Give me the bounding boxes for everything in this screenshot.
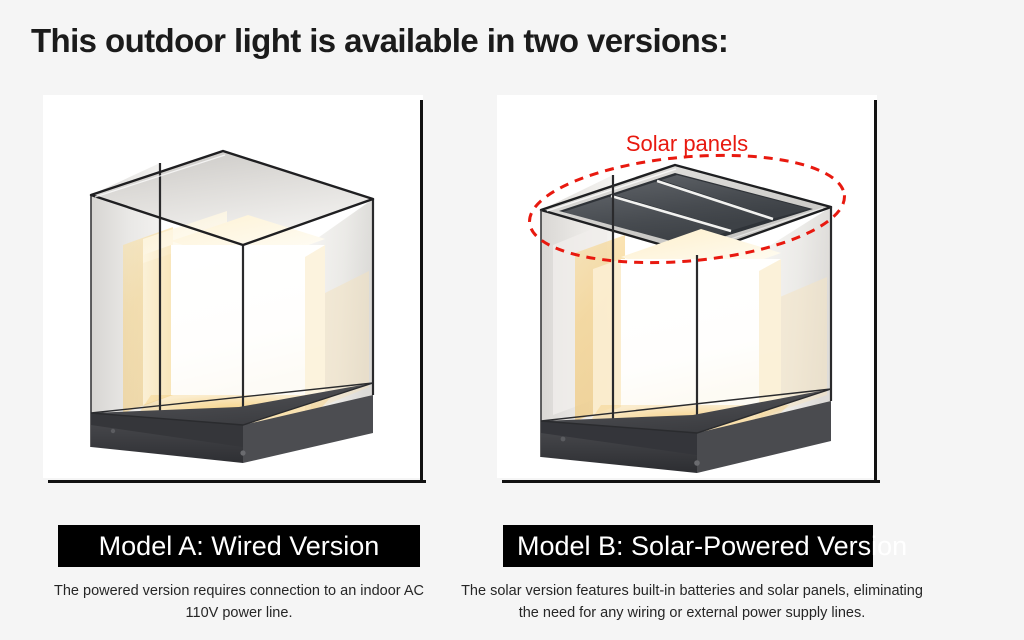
product-card-model-a: Model A: Wired Version The powered versi… [43,95,435,483]
wired-cube-light-illustration [43,95,423,478]
description-model-b: The solar version features built-in batt… [457,580,927,624]
product-photo-model-b: Solar panels [497,95,877,483]
solar-cube-light-illustration [497,95,877,478]
photo-bracket-vertical [420,100,423,483]
description-model-a: The powered version requires connection … [43,580,435,624]
page-title: This outdoor light is available in two v… [31,22,728,60]
product-photo-model-a [43,95,423,483]
product-card-model-b: Solar panels Model B: Solar-Powered Vers… [497,95,889,483]
caption-model-a: Model A: Wired Version [58,525,420,567]
caption-model-b: Model B: Solar-Powered Version [503,525,873,567]
photo-bracket-horizontal [48,480,426,483]
photo-bracket-horizontal [502,480,880,483]
photo-bracket-vertical [874,100,877,483]
